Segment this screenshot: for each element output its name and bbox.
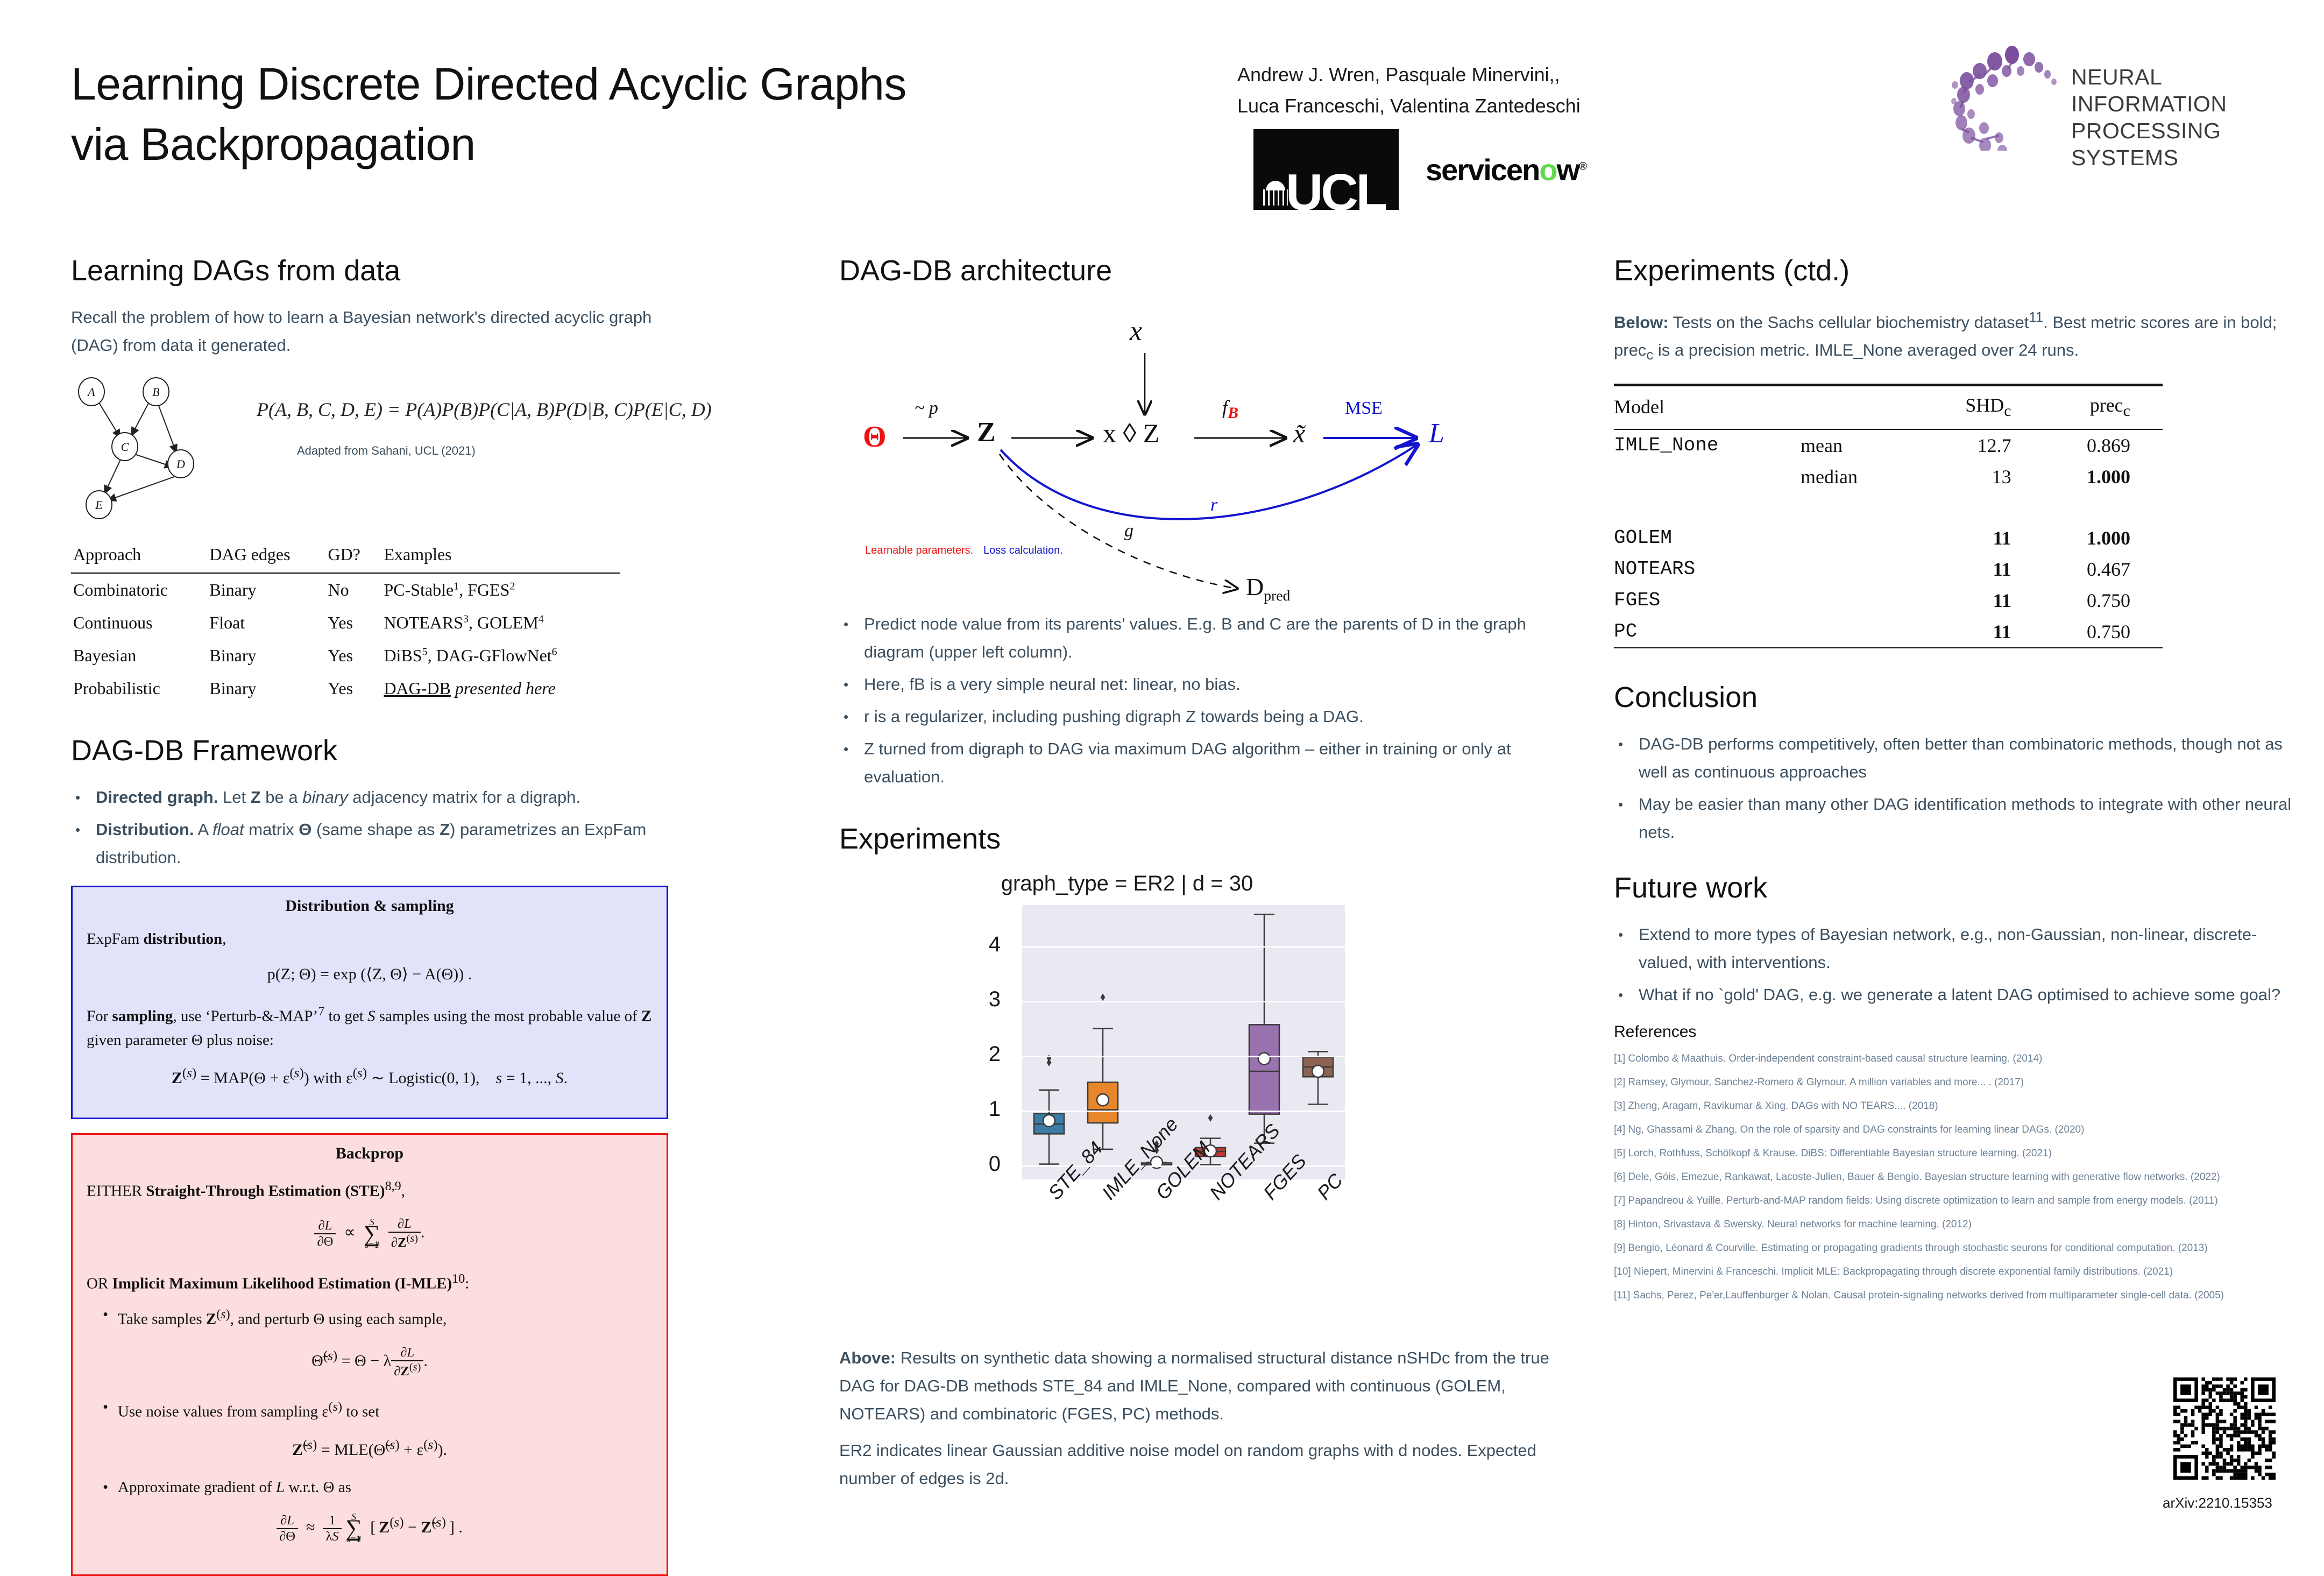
approach-table: Approach DAG edges GD? Examples Combinat…: [71, 542, 620, 705]
table-row: NOTEARS 11 0.467: [1614, 554, 2163, 585]
dist-box-equation-1: p(Z; Θ) = exp (⟨Z, Θ⟩ − A(Θ)) .: [87, 965, 653, 984]
table-row: PC 11 0.750: [1614, 616, 2163, 648]
reference-item: [6] Dele, Góis, Emezue, Rankawat, Lacost…: [1614, 1169, 2308, 1185]
chart-caption-er2: ER2 indicates linear Gaussian additive n…: [839, 1437, 1549, 1493]
dag-node-d: D: [176, 457, 185, 471]
chart-plot-area: [1022, 905, 1345, 1179]
chart-title: graph_type = ER2 | d = 30: [839, 872, 1415, 896]
boxplot-box: [1303, 1051, 1333, 1104]
reference-item: [7] Papandreou & Yuille. Perturb-and-MAP…: [1614, 1193, 2308, 1209]
chart-gridline: [1022, 1056, 1345, 1057]
section-title-conclusion: Conclusion: [1614, 680, 2308, 715]
chart-gridline: [1022, 946, 1345, 948]
authors-line-2: Luca Franceschi, Valentina Zantedeschi: [1237, 90, 1614, 122]
results-prec-cell: 1.000: [2038, 461, 2163, 492]
edges-cell: Binary: [207, 639, 325, 672]
section-title-future-work: Future work: [1614, 870, 2308, 906]
boxplot-box: [1249, 914, 1279, 1143]
list-item: Approximate gradient of L w.r.t. Θ as: [101, 1475, 653, 1499]
boxplot-box: [1088, 993, 1118, 1149]
results-model-cell: NOTEARS: [1614, 554, 1801, 585]
results-stat-cell: [1801, 585, 1942, 616]
backprop-bullet-list: Take samples Z(s), and perturb Θ using e…: [101, 1303, 653, 1331]
dist-box-equation-2: Z(s) = MAP(Θ + ε(s)) with ε(s) ∼ Logisti…: [87, 1066, 653, 1087]
dag-graph-figure: A B C D E P(A, B, C, D, E) = P(A)P(B)P(C…: [71, 371, 652, 533]
factorization-formula: P(A, B, C, D, E) = P(A)P(B)P(C|A, B)P(D|…: [257, 398, 644, 421]
boxplot-box: [1034, 1055, 1064, 1164]
section-title-experiments: Experiments: [839, 821, 1549, 857]
registered-mark-icon: ®: [1579, 160, 1586, 172]
list-item: Distribution. A float matrix Θ (same sha…: [71, 816, 668, 872]
approach-col-header-examples: Examples: [381, 542, 620, 573]
distribution-sampling-box: Distribution & sampling ExpFam distribut…: [71, 886, 668, 1119]
dag-node-e: E: [95, 498, 103, 512]
references-title: References: [1614, 1023, 2308, 1041]
architecture-bullet-list: Predict node value from its parents’ val…: [839, 610, 1549, 791]
gd-cell: No: [325, 573, 381, 607]
gd-cell: Yes: [325, 606, 381, 639]
results-model-cell: [1614, 461, 1801, 492]
list-item: DAG-DB performs competitively, often bet…: [1614, 730, 2308, 786]
arch-label-fB: fB: [1222, 396, 1238, 422]
poster-header: Learning Discrete Directed Acyclic Graph…: [0, 0, 2324, 237]
results-table-caption: Below: Tests on the Sachs cellular bioch…: [1614, 303, 2308, 370]
results-prec-cell: 0.750: [2038, 616, 2163, 648]
neurips-logo-text: NEURAL INFORMATION PROCESSING SYSTEMS: [2071, 63, 2281, 171]
gd-cell: Yes: [325, 639, 381, 672]
results-stat-cell: [1801, 522, 1942, 554]
table-spacer-row: [1614, 492, 2163, 522]
dag-node-b: B: [152, 385, 159, 399]
chart-caption-above: Above: Results on synthetic data showing…: [839, 1344, 1549, 1428]
results-stat-cell: median: [1801, 461, 1942, 492]
approach-col-header-edges: DAG edges: [207, 542, 325, 573]
backprop-bullet-list-3: Approximate gradient of L w.r.t. Θ as: [101, 1475, 653, 1499]
title-block: Learning Discrete Directed Acyclic Graph…: [71, 54, 1093, 174]
table-row: Bayesian Binary Yes DiBS5, DAG-GFlowNet6: [71, 639, 620, 672]
backprop-equation-ste: ∂L∂Θ ∝ ∑Ss=1 ∂L∂Z(s).: [87, 1217, 653, 1250]
arxiv-identifier: arXiv:2210.15353: [2163, 1495, 2272, 1511]
arch-label-theta: Θ: [863, 420, 887, 454]
dist-box-title: Distribution & sampling: [87, 897, 653, 915]
examples-cell: NOTEARS3, GOLEM4: [381, 606, 620, 639]
results-prec-cell: 0.869: [2038, 429, 2163, 461]
results-stat-cell: [1801, 554, 1942, 585]
arch-label-x-tilde: x̃: [1293, 418, 1305, 449]
reference-item: [1] Colombo & Maathuis. Order-independen…: [1614, 1051, 2308, 1067]
backprop-line-imle: OR Implicit Maximum Likelihood Estimatio…: [87, 1267, 653, 1296]
approach-cell: Bayesian: [71, 639, 207, 672]
ucl-logo: UCL: [1253, 129, 1399, 210]
list-item: What if no `gold' DAG, e.g. we generate …: [1614, 981, 2308, 1009]
arch-label-r: r: [1210, 495, 1217, 515]
results-stat-cell: [1801, 616, 1942, 648]
table-row: GOLEM 11 1.000: [1614, 522, 2163, 554]
arch-label-g: g: [1124, 521, 1133, 541]
list-item: Z turned from digraph to DAG via maximum…: [839, 735, 1549, 791]
results-model-cell: FGES: [1614, 585, 1801, 616]
neurips-swirl-icon: [1947, 43, 2071, 151]
reference-item: [11] Sachs, Perez, Pe'er,Lauffenburger &…: [1614, 1288, 2308, 1304]
table-row: median 13 1.000: [1614, 461, 2163, 492]
page-title-line2: via Backpropagation: [71, 114, 1093, 174]
arch-label-mse: MSE: [1345, 398, 1383, 419]
section-title-architecture: DAG-DB architecture: [839, 253, 1549, 288]
results-col-header-shd: SHDc: [1942, 385, 2038, 429]
list-item: Take samples Z(s), and perturb Θ using e…: [101, 1303, 653, 1331]
list-item: Extend to more types of Bayesian network…: [1614, 921, 2308, 977]
list-item: Use noise values from sampling ε(s) to s…: [101, 1395, 653, 1424]
right-column: Experiments (ctd.) Below: Tests on the S…: [1614, 253, 2308, 1311]
approach-cell: Combinatoric: [71, 573, 207, 607]
section-title-learning-dags: Learning DAGs from data: [71, 253, 668, 288]
neurips-line-2: PROCESSING SYSTEMS: [2071, 117, 2281, 171]
reference-item: [2] Ramsey, Glymour, Sanchez-Romero & Gl…: [1614, 1075, 2308, 1091]
results-prec-cell: 0.467: [2038, 554, 2163, 585]
backprop-equation-gradient: ∂L∂Θ ≈ 1λS ∑Ss=1 [ Z(s) − Z̃(s) ] .: [87, 1513, 653, 1544]
architecture-diagram: x Θ ~ p Z x ◊ Z fB x̃ MSE L r g Dpred Le…: [839, 303, 1549, 605]
results-shd-cell: 12.7: [1942, 429, 2038, 461]
arch-label-L: L: [1429, 418, 1444, 449]
reference-item: [5] Lorch, Rothfuss, Schölkopf & Krause.…: [1614, 1146, 2308, 1162]
list-item: Directed graph. Let Z be a binary adjace…: [71, 783, 668, 811]
backprop-box-title: Backprop: [87, 1144, 653, 1163]
results-shd-cell: 13: [1942, 461, 2038, 492]
edges-cell: Binary: [207, 672, 325, 705]
results-model-cell: IMLE_None: [1614, 429, 1801, 461]
edges-cell: Float: [207, 606, 325, 639]
backprop-equation-z-tilde: Z̃(s) = MLE(Θ̃(s) + ε(s)).: [87, 1438, 653, 1459]
results-col-header-model: Model: [1614, 385, 1801, 429]
arch-label-x-input: x: [1130, 315, 1142, 347]
qr-code[interactable]: [2173, 1377, 2276, 1480]
servicenow-logo-tail: w: [1557, 153, 1579, 187]
results-model-cell: PC: [1614, 616, 1801, 648]
examples-cell: PC-Stable1, FGES2: [381, 573, 620, 607]
table-row: IMLE_None mean 12.7 0.869: [1614, 429, 2163, 461]
left-column: Learning DAGs from data Recall the probl…: [71, 253, 668, 1576]
reference-item: [4] Ng, Ghassami & Zhang. On the role of…: [1614, 1122, 2308, 1138]
results-shd-cell: 11: [1942, 554, 2038, 585]
poster-root: Learning Discrete Directed Acyclic Graph…: [0, 0, 2324, 1550]
results-prec-cell: 1.000: [2038, 522, 2163, 554]
section-title-dagdb-framework: DAG-DB Framework: [71, 733, 668, 768]
table-row: Probabilistic Binary Yes DAG-DB presente…: [71, 672, 620, 705]
list-item: Predict node value from its parents’ val…: [839, 610, 1549, 666]
chart-gridline: [1022, 1001, 1345, 1002]
ucl-logo-text: UCL: [1286, 167, 1385, 210]
list-item: Here, fB is a very simple neural net: li…: [839, 670, 1549, 698]
backprop-line-ste: EITHER Straight-Through Estimation (STE)…: [87, 1175, 653, 1203]
boxplot-chart: graph_type = ER2 | d = 30 01234 STE_84IM…: [839, 872, 1549, 1340]
results-shd-cell: 11: [1942, 616, 2038, 648]
references-section: References [1] Colombo & Maathuis. Order…: [1614, 1023, 2308, 1304]
authors-line-1: Andrew J. Wren, Pasquale Minervini,,: [1237, 59, 1614, 90]
chart-y-tick-label: 3: [839, 987, 1001, 1012]
servicenow-logo: servicenow®: [1426, 152, 1586, 187]
results-prec-cell: 0.750: [2038, 585, 2163, 616]
chart-y-tick-label: 2: [839, 1042, 1001, 1066]
arch-label-dpred: Dpred: [1246, 573, 1290, 604]
figure-credit: Adapted from Sahani, UCL (2021): [297, 444, 476, 458]
reference-item: [9] Bengio, Léonard & Courville. Estimat…: [1614, 1240, 2308, 1256]
gd-cell: Yes: [325, 672, 381, 705]
results-model-cell: GOLEM: [1614, 522, 1801, 554]
ucl-dome-icon: [1263, 180, 1288, 206]
chart-y-tick-label: 0: [839, 1152, 1001, 1176]
conclusion-bullet-list: DAG-DB performs competitively, often bet…: [1614, 730, 2308, 846]
dag-node-a: A: [87, 385, 95, 399]
chart-gridline: [1022, 1111, 1345, 1112]
approach-col-header-gd: GD?: [325, 542, 381, 573]
authors-block: Andrew J. Wren, Pasquale Minervini,, Luc…: [1237, 59, 1614, 122]
backprop-bullet-list-2: Use noise values from sampling ε(s) to s…: [101, 1395, 653, 1424]
framework-bullet-list: Directed graph. Let Z be a binary adjace…: [71, 783, 668, 872]
approach-col-header-approach: Approach: [71, 542, 207, 573]
page-title-line1: Learning Discrete Directed Acyclic Graph…: [71, 54, 1093, 114]
middle-column: DAG-DB architecture: [839, 253, 1549, 1501]
results-shd-cell: 11: [1942, 522, 2038, 554]
architecture-arrows: [839, 303, 1549, 605]
table-row: FGES 11 0.750: [1614, 585, 2163, 616]
reference-item: [8] Hinton, Srivastava & Swersky. Neural…: [1614, 1217, 2308, 1233]
arch-label-sim-p: ~ p: [915, 398, 938, 419]
future-work-bullet-list: Extend to more types of Bayesian network…: [1614, 921, 2308, 1009]
approach-cell: Probabilistic: [71, 672, 207, 705]
results-col-header-stat: [1801, 385, 1942, 429]
results-col-header-prec: precc: [2038, 385, 2163, 429]
backprop-box: Backprop EITHER Straight-Through Estimat…: [71, 1133, 668, 1576]
affiliation-logos: UCL servicenow®: [1253, 129, 1586, 210]
reference-item: [3] Zheng, Aragam, Ravikumar & Xing. DAG…: [1614, 1098, 2308, 1114]
arch-label-x-diamond-Z: x ◊ Z: [1103, 418, 1159, 449]
results-shd-cell: 11: [1942, 585, 2038, 616]
chart-y-tick-label: 4: [839, 932, 1001, 957]
neurips-line-1: NEURAL INFORMATION: [2071, 63, 2281, 117]
arch-legend-learnable: Learnable parameters.: [865, 545, 973, 557]
intro-paragraph: Recall the problem of how to learn a Bay…: [71, 303, 668, 359]
neurips-logo: NEURAL INFORMATION PROCESSING SYSTEMS: [1947, 43, 2281, 151]
approach-cell: Continuous: [71, 606, 207, 639]
dag-node-c: C: [121, 440, 129, 454]
servicenow-logo-text: servicen: [1426, 153, 1539, 187]
list-item: May be easier than many other DAG identi…: [1614, 790, 2308, 846]
section-title-experiments-ctd: Experiments (ctd.): [1614, 253, 2308, 288]
results-table: Model SHDc precc IMLE_None mean 12.7 0.8…: [1614, 384, 2163, 648]
results-header-row: Model SHDc precc: [1614, 385, 2163, 429]
chart-y-tick-label: 1: [839, 1097, 1001, 1121]
backprop-equation-theta-tilde: Θ̃(s) = Θ − λ∂L∂Z(s).: [87, 1345, 653, 1379]
examples-cell: DiBS5, DAG-GFlowNet6: [381, 639, 620, 672]
arch-legend-loss: Loss calculation.: [983, 545, 1063, 557]
table-row: Combinatoric Binary No PC-Stable1, FGES2: [71, 573, 620, 607]
list-item: r is a regularizer, including pushing di…: [839, 703, 1549, 731]
approach-table-header-row: Approach DAG edges GD? Examples: [71, 542, 620, 573]
results-stat-cell: mean: [1801, 429, 1942, 461]
dist-box-line1: ExpFam distribution,: [87, 927, 653, 951]
examples-cell: DAG-DB presented here: [381, 672, 620, 705]
bayesian-network-diagram: A B C D E: [71, 371, 254, 533]
reference-item: [10] Niepert, Minervini & Franceschi. Im…: [1614, 1264, 2308, 1280]
arch-label-Z: Z: [977, 416, 996, 448]
table-row: Continuous Float Yes NOTEARS3, GOLEM4: [71, 606, 620, 639]
dist-box-line2: For sampling, use ‘Perturb-&-MAP’7 to ge…: [87, 1000, 653, 1052]
servicenow-logo-o: o: [1539, 153, 1556, 187]
edges-cell: Binary: [207, 573, 325, 607]
